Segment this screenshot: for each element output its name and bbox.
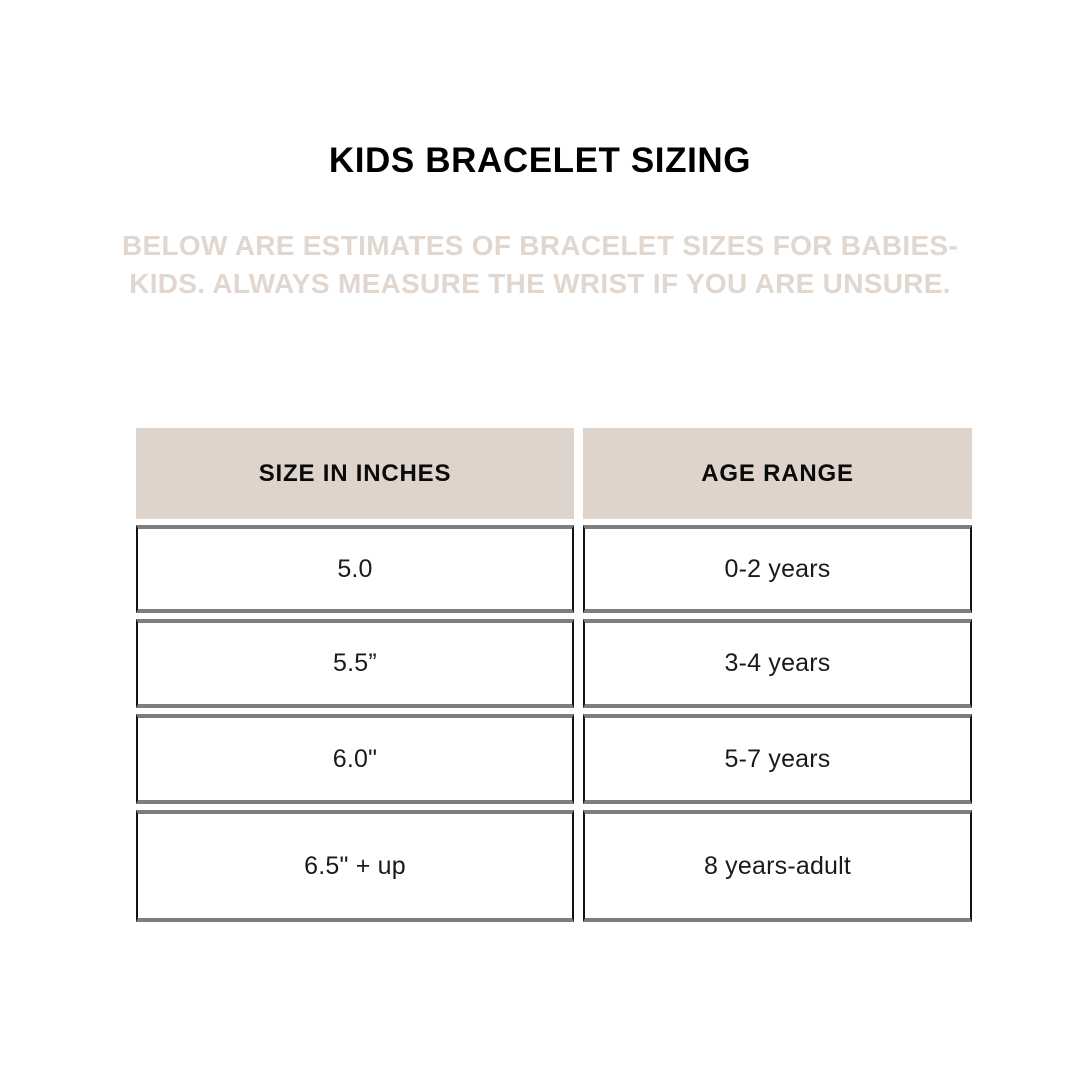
cell-age-3: 5-7 years bbox=[583, 714, 972, 804]
cell-age-1: 0-2 years bbox=[583, 525, 972, 613]
column-gap bbox=[574, 810, 583, 922]
sizing-table: SIZE IN INCHES AGE RANGE 5.0 0-2 years 5… bbox=[136, 428, 972, 922]
cell-age-4: 8 years-adult bbox=[583, 810, 972, 922]
table-header-row: SIZE IN INCHES AGE RANGE bbox=[136, 428, 972, 519]
sizing-chart-page: KIDS BRACELET SIZING BELOW ARE ESTIMATES… bbox=[0, 0, 1080, 1080]
table-row: 6.0" 5-7 years bbox=[136, 714, 972, 804]
cell-size-3: 6.0" bbox=[136, 714, 574, 804]
table-header-size-in-inches: SIZE IN INCHES bbox=[136, 428, 574, 519]
column-gap bbox=[574, 714, 583, 804]
table-header-age-range: AGE RANGE bbox=[583, 428, 972, 519]
table-row: 5.0 0-2 years bbox=[136, 525, 972, 613]
page-title: KIDS BRACELET SIZING bbox=[0, 141, 1080, 181]
cell-age-2: 3-4 years bbox=[583, 619, 972, 708]
cell-size-1: 5.0 bbox=[136, 525, 574, 613]
table-row: 5.5” 3-4 years bbox=[136, 619, 972, 708]
cell-size-4: 6.5" + up bbox=[136, 810, 574, 922]
column-gap bbox=[574, 525, 583, 613]
cell-size-2: 5.5” bbox=[136, 619, 574, 708]
table-row: 6.5" + up 8 years-adult bbox=[136, 810, 972, 922]
column-gap bbox=[574, 428, 583, 519]
page-subtitle: BELOW ARE ESTIMATES OF BRACELET SIZES FO… bbox=[120, 227, 960, 303]
column-gap bbox=[574, 619, 583, 708]
